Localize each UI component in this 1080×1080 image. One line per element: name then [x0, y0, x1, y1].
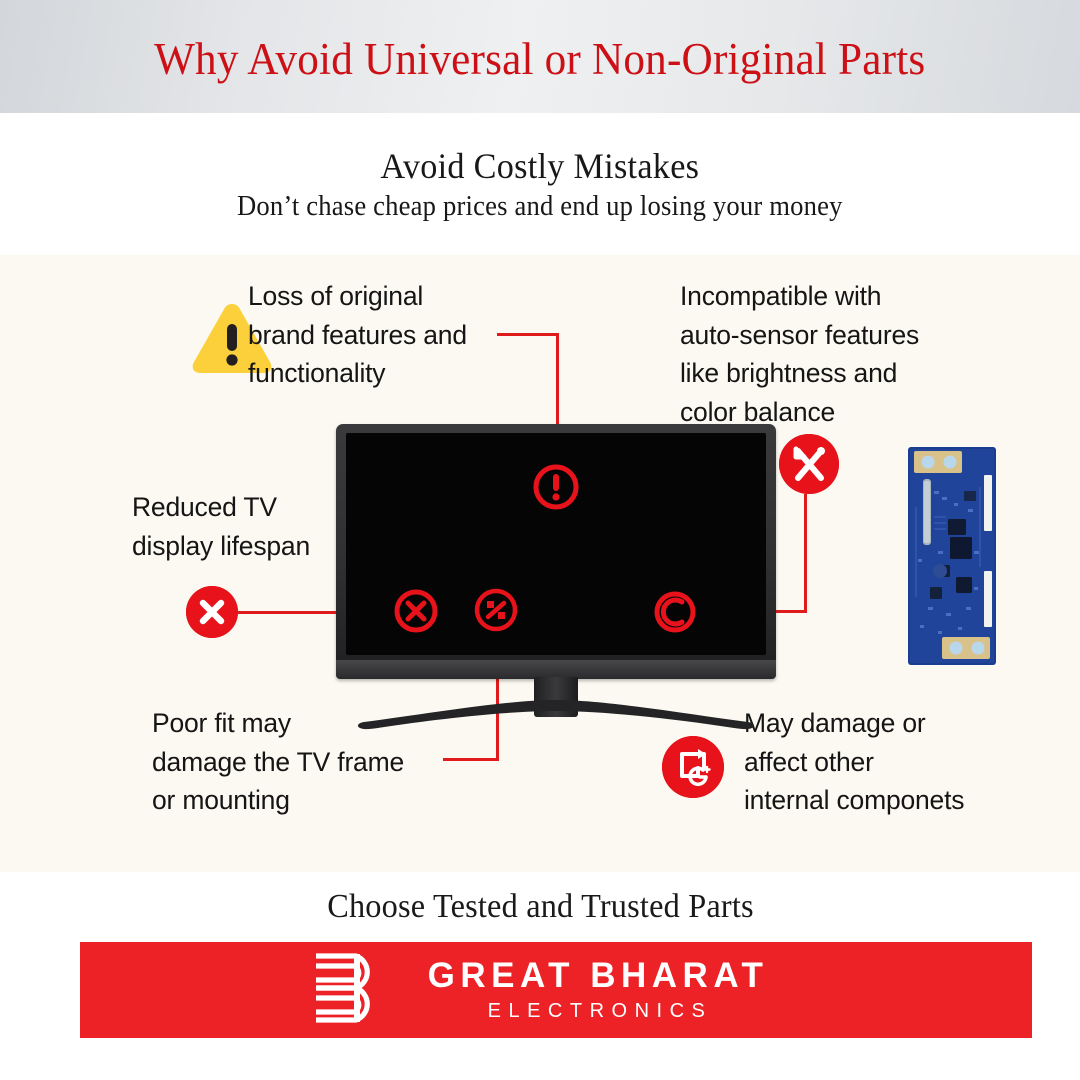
subheading-block: Avoid Costly Mistakes Don’t chase cheap …: [0, 113, 1080, 255]
callout-reduced-lifespan: Reduced TV display lifespan: [132, 488, 310, 565]
header-banner: Why Avoid Universal or Non-Original Part…: [0, 0, 1080, 113]
footer-tagline: Choose Tested and Trusted Parts: [327, 888, 754, 926]
subheading-primary: Avoid Costly Mistakes: [381, 145, 700, 187]
connector-line-poorfit-h: [443, 758, 499, 761]
callout-loss-of-features: Loss of original brand features and func…: [248, 277, 467, 393]
footer-tagline-area: Choose Tested and Trusted Parts: [0, 872, 1080, 942]
x-circle-icon: [186, 586, 238, 638]
connector-line-sensors-v: [804, 494, 807, 612]
brand-name: GREAT BHARAT: [428, 957, 769, 995]
callout-internal-damage: May damage or affect other internal comp…: [744, 704, 964, 820]
exclamation-circle-icon: [531, 462, 581, 517]
page-title: Why Avoid Universal or Non-Original Part…: [154, 33, 925, 85]
export-damage-icon: [662, 736, 724, 798]
tv-stand-base: [356, 700, 756, 730]
subheading-secondary: Don’t chase cheap prices and end up losi…: [237, 191, 843, 223]
stacked-b-logo-icon: [310, 950, 402, 1031]
x-circle-icon-screen: [392, 587, 440, 640]
percent-circle-icon: [472, 586, 520, 639]
callout-incompatible-sensors: Incompatible with auto-sensor features l…: [680, 277, 919, 431]
partial-circle-icon: [652, 589, 698, 640]
tcon-board-image: [908, 447, 996, 665]
tools-icon: [779, 434, 839, 494]
connector-line-features-h: [497, 333, 559, 336]
brand-subtitle: ELECTRONICS: [432, 1000, 769, 1023]
brand-bar: GREAT BHARAT ELECTRONICS: [80, 942, 1032, 1038]
